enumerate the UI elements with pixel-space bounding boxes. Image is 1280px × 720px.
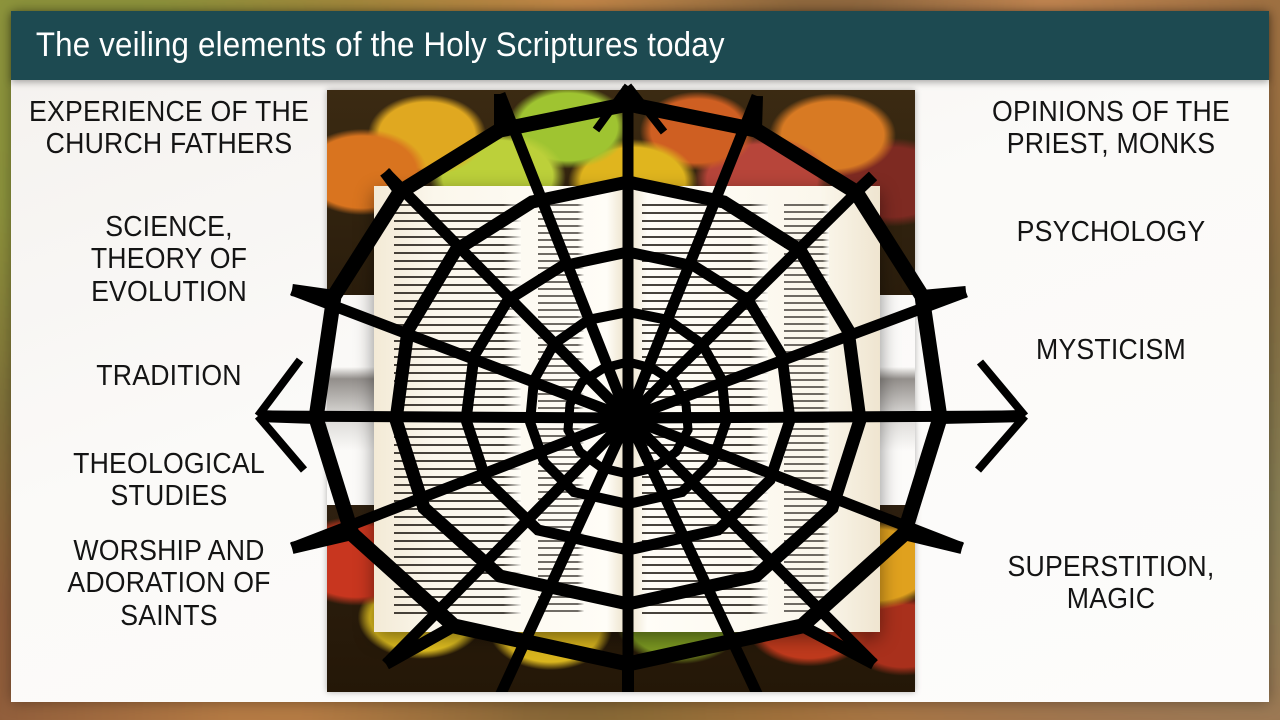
label-mysticism: MYSTICISM [966,334,1257,366]
label-science-theory-of-evolution: SCIENCE, THEORY OF EVOLUTION [24,211,315,308]
label-worship-and-adoration-of-saints: WORSHIP AND ADORATION OF SAINTS [24,535,315,632]
label-tradition: TRADITION [24,360,315,392]
left-label-column: EXPERIENCE OF THE CHURCH FATHERS SCIENCE… [11,80,327,702]
bible-reference-column-1 [538,204,584,614]
right-label-column: OPINIONS OF THE PRIEST, MONKS PSYCHOLOGY… [953,80,1269,702]
label-experience-of-the-church-fathers: EXPERIENCE OF THE CHURCH FATHERS [24,96,315,161]
bible-text-column-1 [394,204,520,614]
label-theological-studies: THEOLOGICAL STUDIES [24,448,315,513]
bible-leaves-photo [327,90,915,692]
label-psychology: PSYCHOLOGY [966,216,1257,248]
title-bar: The veiling elements of the Holy Scriptu… [11,11,1269,80]
label-superstition-magic: SUPERSTITION, MAGIC [966,551,1257,616]
label-opinions-of-the-priest-monks: OPINIONS OF THE PRIEST, MONKS [966,96,1257,161]
center-image [327,90,915,692]
slide: The veiling elements of the Holy Scriptu… [0,0,1280,720]
bible-reference-column-2 [784,204,830,614]
bible-text-column-2 [642,204,768,614]
open-bible [374,186,880,631]
page-title: The veiling elements of the Holy Scriptu… [11,26,725,65]
